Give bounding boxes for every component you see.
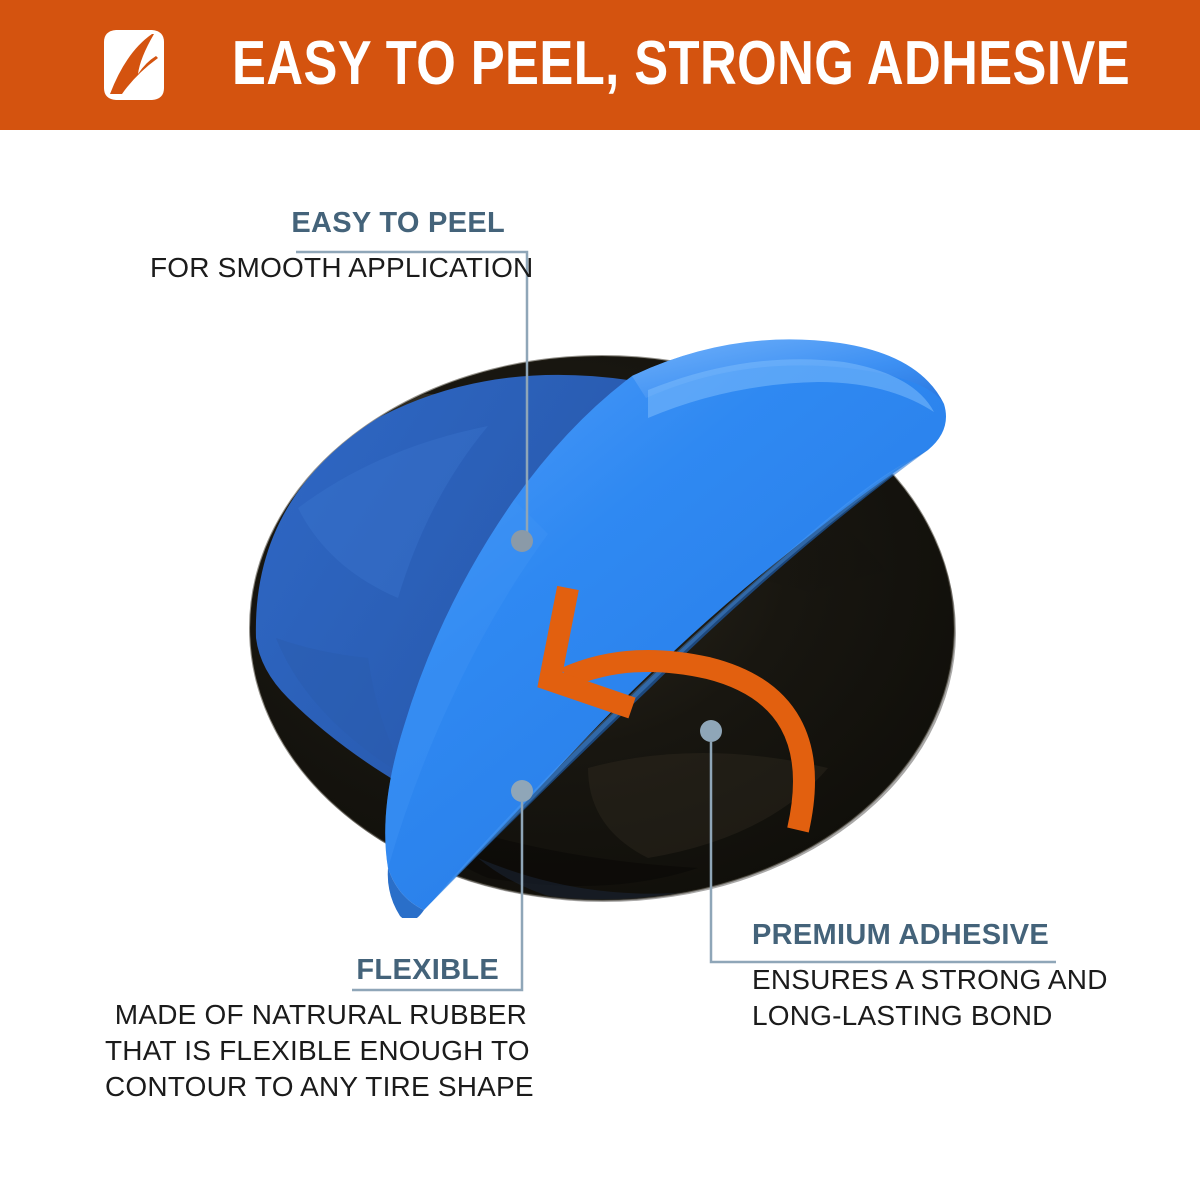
tire-patch-swoosh-logo-icon [96, 28, 172, 102]
header-title: EASY TO PEEL, STRONG ADHESIVE [232, 33, 1130, 95]
callout-heading-flexible: FLEXIBLE [105, 955, 527, 985]
callout-body-line: LONG-LASTING BOND [752, 998, 1090, 1034]
callout-flexible: FLEXIBLE MADE OF NATRURAL RUBBER THAT IS… [105, 955, 527, 1105]
callout-body-premium-adhesive: ENSURES A STRONG AND LONG-LASTING BOND [730, 962, 1090, 1034]
callout-body-line: MADE OF NATRURAL RUBBER [105, 997, 527, 1033]
callout-body-flexible: MADE OF NATRURAL RUBBER THAT IS FLEXIBLE… [105, 997, 527, 1104]
callout-easy-to-peel: EASY TO PEEL FOR SMOOTH APPLICATION [150, 208, 527, 286]
callout-body-line: ENSURES A STRONG AND [752, 962, 1090, 998]
header-banner: EASY TO PEEL, STRONG ADHESIVE [0, 0, 1200, 130]
callout-body-line: FOR SMOOTH APPLICATION [150, 250, 527, 286]
callout-body-line: CONTOUR TO ANY TIRE SHAPE [105, 1069, 527, 1105]
product-image [228, 338, 976, 918]
callout-premium-adhesive: PREMIUM ADHESIVE ENSURES A STRONG AND LO… [730, 920, 1090, 1034]
tire-patch-illustration [228, 338, 976, 918]
callout-body-line: THAT IS FLEXIBLE ENOUGH TO [105, 1033, 527, 1069]
callout-heading-premium-adhesive: PREMIUM ADHESIVE [730, 920, 1090, 950]
callout-body-easy-to-peel: FOR SMOOTH APPLICATION [150, 250, 527, 286]
infographic-page: EASY TO PEEL, STRONG ADHESIVE [0, 0, 1200, 1200]
callout-heading-easy-to-peel: EASY TO PEEL [150, 208, 527, 238]
